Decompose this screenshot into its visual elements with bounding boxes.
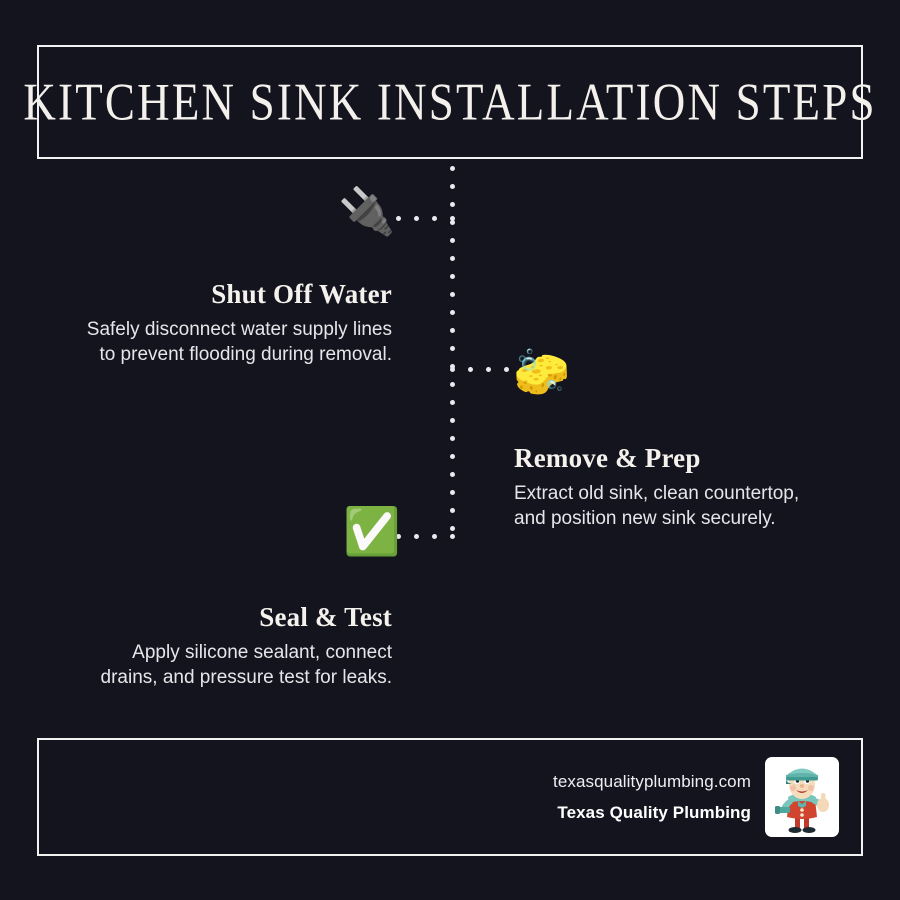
step-item-1: Shut Off Water Safely disconnect water s… <box>40 279 392 367</box>
connector-branch-dot <box>468 367 473 372</box>
connector-dot <box>450 216 455 221</box>
title-banner: Kitchen Sink Installation Steps <box>37 45 863 159</box>
connector-dot <box>450 184 455 189</box>
connector-branch-dot <box>414 216 419 221</box>
connector-dot <box>450 292 455 297</box>
connector-dot <box>450 534 455 539</box>
footer-banner: texasqualityplumbing.com Texas Quality P… <box>37 738 863 856</box>
connector-branch-dot <box>432 216 437 221</box>
connector-dot <box>450 490 455 495</box>
connector-dot <box>450 436 455 441</box>
connector-dot <box>450 274 455 279</box>
connector-dot <box>450 238 455 243</box>
connector-dot <box>450 166 455 171</box>
connector-branch-dot <box>432 534 437 539</box>
connector-dot <box>450 454 455 459</box>
connector-dot <box>450 310 455 315</box>
step-body: Apply silicone sealant, connect drains, … <box>40 640 392 690</box>
step-item-3: Seal & Test Apply silicone sealant, conn… <box>40 602 392 690</box>
footer-content: texasqualityplumbing.com Texas Quality P… <box>553 740 839 854</box>
connector-dot <box>450 256 455 261</box>
footer-text-block: texasqualityplumbing.com Texas Quality P… <box>553 769 751 825</box>
step-heading: Shut Off Water <box>40 279 392 310</box>
connector-dot <box>450 367 455 372</box>
electric-plug-icon: 🔌 <box>338 188 395 234</box>
connector-dot <box>450 400 455 405</box>
step-heading: Seal & Test <box>40 602 392 633</box>
plumber-mascot-illustration <box>765 757 839 837</box>
brand-name: Texas Quality Plumbing <box>553 800 751 826</box>
page-title: Kitchen Sink Installation Steps <box>23 75 876 128</box>
connector-dot <box>450 472 455 477</box>
connector-dot <box>450 346 455 351</box>
connector-branch-dot <box>504 367 509 372</box>
connector-branch-dot <box>414 534 419 539</box>
step-body: Safely disconnect water supply lines to … <box>40 317 392 367</box>
plumber-mascot-logo <box>765 757 839 837</box>
connector-branch-dot <box>486 367 491 372</box>
step-body: Extract old sink, clean countertop, and … <box>514 481 866 531</box>
connector-dot <box>450 202 455 207</box>
connector-dot <box>450 382 455 387</box>
connector-dot <box>450 328 455 333</box>
sponge-icon: 🧽 <box>513 349 570 395</box>
website-url[interactable]: texasqualityplumbing.com <box>553 769 751 795</box>
connector-branch-dot <box>396 216 401 221</box>
check-mark-button-icon: ✅ <box>343 508 400 554</box>
connector-dot <box>450 418 455 423</box>
step-heading: Remove & Prep <box>514 443 866 474</box>
infographic-poster: Kitchen Sink Installation Steps 🔌 Shut O… <box>0 0 900 900</box>
step-item-2: Remove & Prep Extract old sink, clean co… <box>514 443 866 531</box>
connector-dot <box>450 526 455 531</box>
connector-dot <box>450 508 455 513</box>
